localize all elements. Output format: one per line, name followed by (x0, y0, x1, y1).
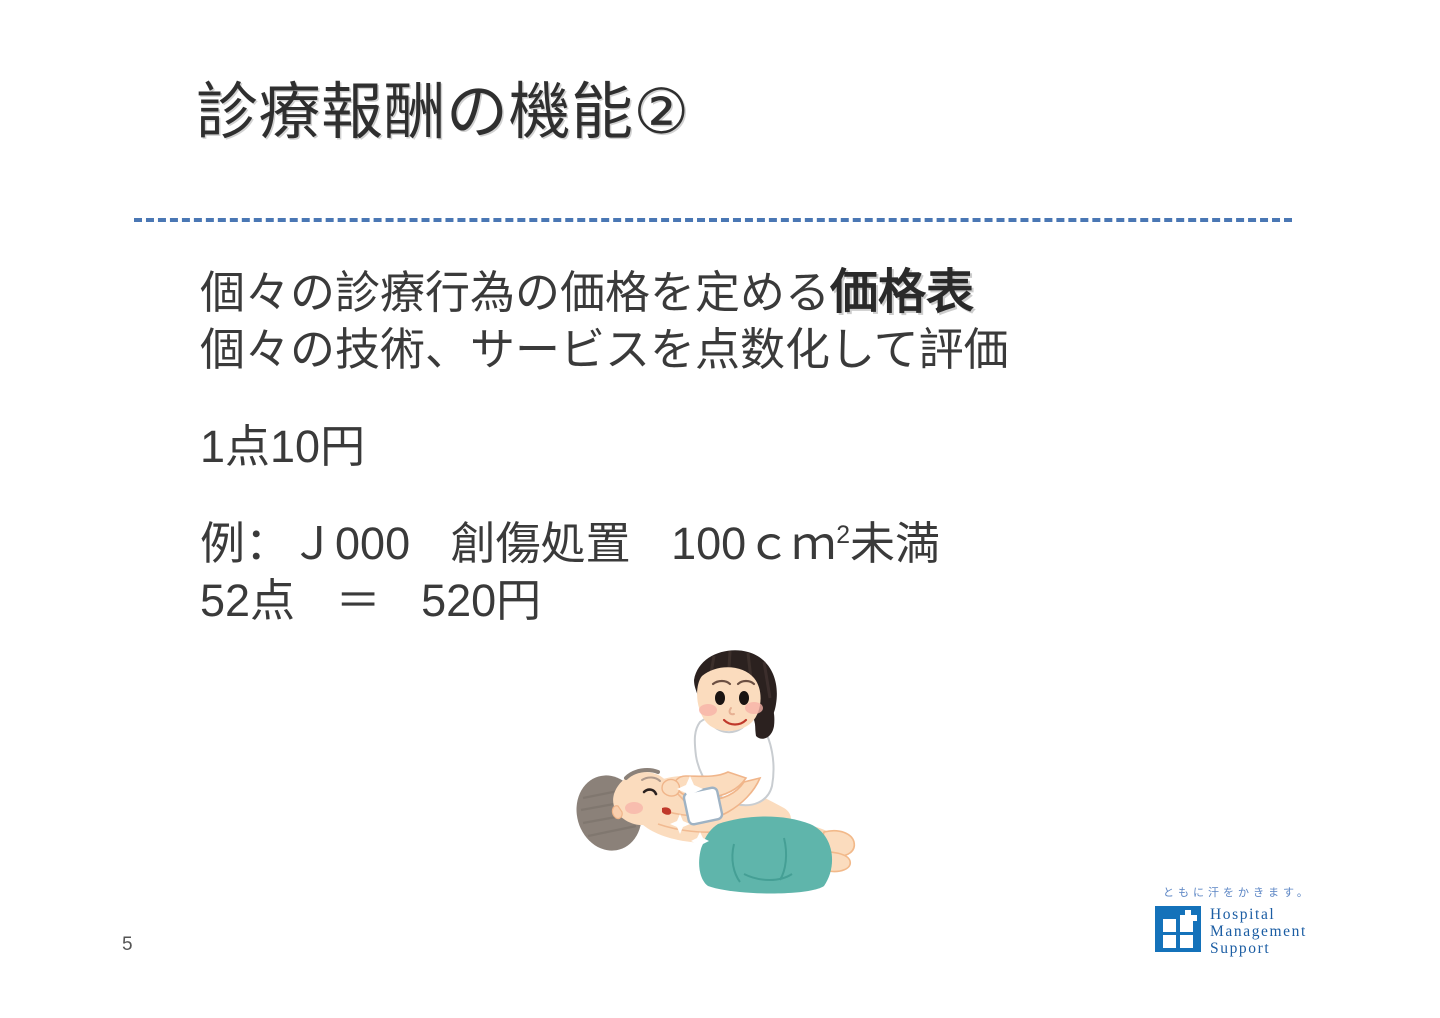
line-example-code: 例：Ｊ000創傷処置100ｃｍ2未満 (200, 515, 1200, 572)
logo-wordmark: Hospital Management Support (1210, 906, 1307, 957)
example-label: 例： (200, 518, 290, 569)
example-size: 100ｃｍ (671, 518, 836, 569)
logo-tagline: ともに汗をかきます。 (1163, 884, 1355, 900)
price-table-prefix: 個々の診療行為の価格を定める (200, 267, 830, 318)
example-code: Ｊ000 (290, 518, 410, 569)
example-size-suffix: 未満 (850, 518, 940, 569)
line-price-table: 個々の診療行為の価格を定める価格表 (200, 264, 1200, 321)
example-procedure: 創傷処置 (451, 518, 631, 569)
example-equals: ＝ (336, 575, 381, 626)
company-logo: ともに汗をかきます。 Hospital Management Support (1155, 884, 1355, 957)
logo-square (1163, 935, 1176, 948)
example-size-superscript: 2 (836, 522, 850, 549)
logo-line-2: Management (1210, 923, 1307, 940)
hospital-squares-cross-icon (1155, 906, 1201, 952)
line-evaluation: 個々の技術、サービスを点数化して評価 (200, 321, 1200, 378)
logo-row: Hospital Management Support (1155, 906, 1355, 957)
slide: 診療報酬の機能② 個々の診療行為の価格を定める価格表 個々の技術、サービスを点数… (0, 0, 1440, 1018)
logo-line-1: Hospital (1210, 906, 1307, 923)
nurse-patient-illustration (548, 628, 888, 898)
page-number: 5 (122, 934, 133, 956)
logo-cross (1185, 910, 1191, 926)
body-content: 個々の診療行為の価格を定める価格表 個々の技術、サービスを点数化して評価 1点1… (200, 264, 1200, 629)
example-yen: 520円 (421, 575, 541, 626)
line-example-total: 52点＝520円 (200, 572, 1200, 629)
logo-line-3: Support (1210, 940, 1307, 957)
title-divider (134, 218, 1292, 222)
page-title: 診療報酬の機能② (196, 78, 690, 147)
logo-square (1163, 919, 1176, 932)
logo-square (1180, 935, 1193, 948)
price-table-emphasis: 価格表 (830, 266, 974, 319)
example-points: 52点 (200, 575, 295, 626)
line-point-value: 1点10円 (200, 418, 1200, 475)
